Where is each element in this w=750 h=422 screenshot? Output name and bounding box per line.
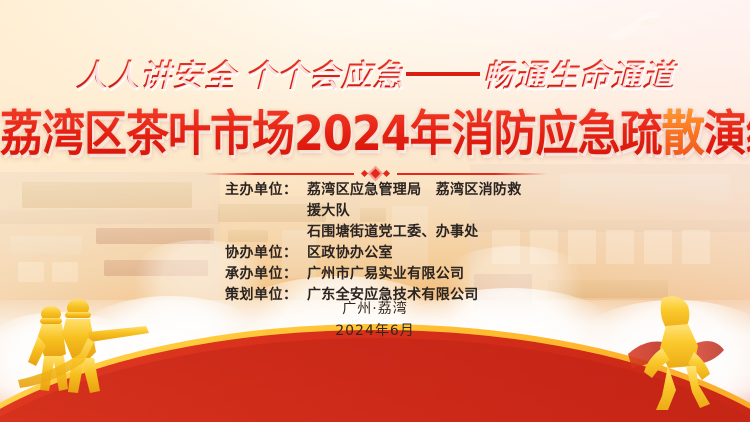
organizer-row: 承办单位： 广州市广易实业有限公司 [225, 264, 525, 285]
organizer-value: 石围塘街道党工委、办事处 [307, 222, 525, 243]
organizer-label: 主办单位： [225, 180, 307, 222]
organizer-label: 承办单位： [225, 264, 307, 285]
organizer-row: 协办单位： 区政协办公室 [225, 243, 525, 264]
page-title: 荔湾区茶叶市场2024年消防应急疏散演练 [0, 95, 750, 164]
divider-line-left [204, 173, 354, 175]
diamond-ornament-icon [362, 168, 389, 179]
organizer-row: 主办单位： 石围塘街道党工委、办事处 [225, 222, 525, 243]
dove-icon [606, 8, 670, 53]
footer-location: 广州·荔湾 [0, 298, 750, 320]
tagline-right: 畅通生命通道 [482, 58, 674, 93]
footer-info: 广州·荔湾 2024年6月 [0, 298, 750, 342]
title-part-1: 荔湾区茶叶市场2024年消防应急疏 [0, 106, 662, 162]
tagline: 人人讲安全 个个会应急畅通生命通道 [0, 50, 750, 95]
organizer-row: 主办单位： 荔湾区应急管理局 荔湾区消防救援大队 [225, 180, 525, 222]
organizer-value: 荔湾区应急管理局 荔湾区消防救援大队 [307, 180, 525, 222]
divider [0, 168, 750, 179]
organizer-label: 协办单位： [225, 243, 307, 264]
tagline-left: 人人讲安全 个个会应急 [76, 58, 405, 93]
fire-drill-banner: 人人讲安全 个个会应急畅通生命通道 荔湾区茶叶市场2024年消防应急疏散演练 主… [0, 0, 750, 422]
organizer-value: 广州市广易实业有限公司 [307, 264, 525, 285]
title-part-2: 演练 [704, 106, 750, 162]
divider-line-right [397, 173, 547, 175]
organizer-value: 区政协办公室 [307, 243, 525, 264]
title-highlight: 散 [662, 106, 704, 162]
organizer-list: 主办单位： 荔湾区应急管理局 荔湾区消防救援大队 主办单位： 石围塘街道党工委、… [0, 180, 750, 306]
tagline-dash [406, 72, 480, 76]
footer-date: 2024年6月 [0, 320, 750, 342]
